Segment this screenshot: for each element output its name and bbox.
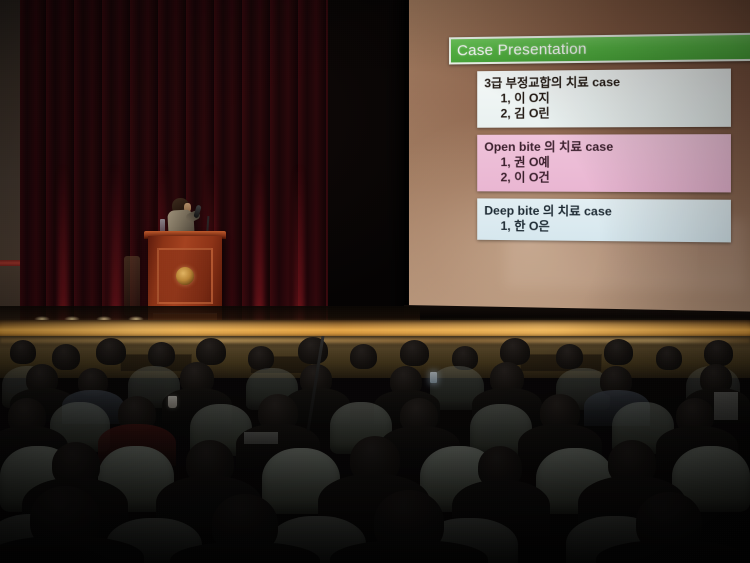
- slide-box-item: 1, 이 O지: [484, 89, 731, 106]
- audience-head: [400, 340, 429, 366]
- handout-paper: [244, 432, 278, 444]
- podium-front-panel: [157, 248, 213, 304]
- audience-head: [96, 338, 126, 365]
- projection-screen: Case Presentation 3급 부정교합의 치료 case 1, 이 …: [404, 0, 750, 326]
- slide-box-item: 1, 한 O은: [484, 219, 731, 237]
- left-wall-pillar: [0, 0, 20, 332]
- phone-screen-icon: [430, 372, 437, 383]
- slide-box-class3: 3급 부정교합의 치료 case 1, 이 O지 2, 김 O린: [477, 69, 731, 128]
- slide-box-item: 2, 이 O건: [484, 170, 731, 186]
- screen-surface: Case Presentation 3급 부정교합의 치료 case 1, 이 …: [409, 0, 750, 313]
- slide-box-item: 1, 권 O예: [484, 155, 731, 171]
- presentation-slide: Case Presentation 3급 부정교합의 치료 case 1, 이 …: [449, 33, 750, 243]
- audience-head: [148, 342, 175, 367]
- audience-head: [604, 339, 633, 365]
- slide-box-deepbite: Deep bite 의 치료 case 1, 한 O은: [477, 198, 731, 242]
- paper-cup-icon: [168, 396, 177, 408]
- audience-head: [196, 338, 226, 365]
- audience-head: [52, 344, 80, 370]
- audience-head: [500, 338, 530, 365]
- lecture-hall-photo: Case Presentation 3급 부정교합의 치료 case 1, 이 …: [0, 0, 750, 563]
- audience-area: [0, 336, 750, 563]
- audience-head: [10, 340, 36, 364]
- audience-head: [556, 344, 583, 369]
- slide-title: Case Presentation: [457, 40, 587, 59]
- slide-title-bar: Case Presentation: [449, 33, 750, 65]
- audience-head: [248, 346, 274, 370]
- handout-paper: [714, 392, 738, 420]
- audience-head: [704, 340, 733, 366]
- wall-accent-stripe: [0, 260, 20, 266]
- slide-box-item: 2, 김 O린: [484, 105, 731, 122]
- audience-head: [350, 344, 377, 369]
- audience-head: [656, 346, 682, 370]
- stage-floor-light: [0, 322, 750, 336]
- slide-box-heading: Open bite 의 치료 case: [484, 139, 731, 155]
- slide-box-openbite: Open bite 의 치료 case 1, 권 O예 2, 이 O건: [477, 134, 731, 192]
- podium-emblem-icon: [176, 267, 194, 285]
